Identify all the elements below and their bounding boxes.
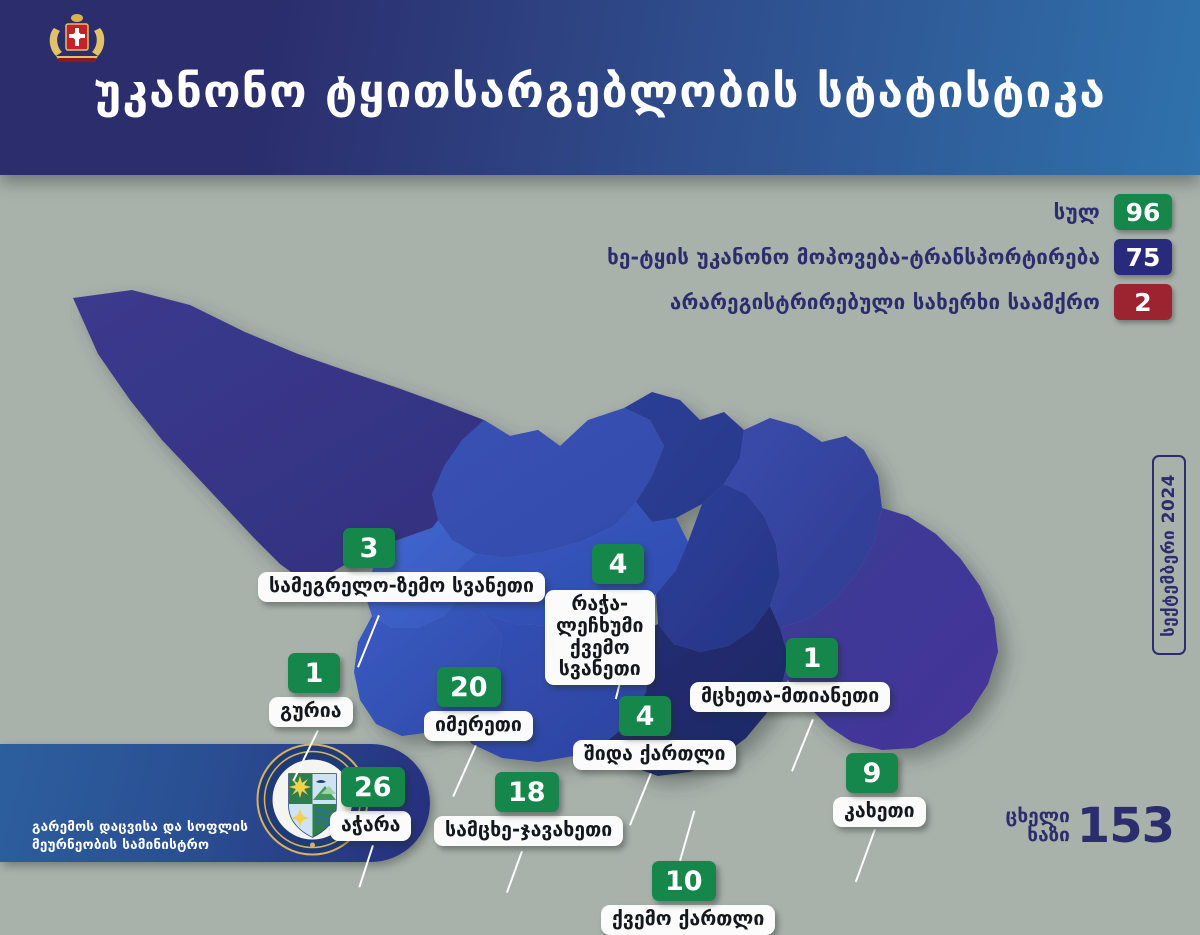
header-banner: უკანონო ტყითსარგებლობის სტატისტიკა (0, 0, 1200, 175)
date-tag: სექტემბერი 2024 (1152, 455, 1186, 655)
region-name-label: აჭარა (330, 811, 411, 841)
region-value-badge: 20 (437, 667, 501, 707)
region-name-label: შიდა ქართლი (573, 740, 736, 770)
region-name-label: რაჭა-ლეჩხუმი ქვემო სვანეთი (545, 590, 655, 685)
hotline-number: 153 (1077, 805, 1174, 848)
region-value-badge: 18 (495, 772, 559, 812)
hotline-label: ცხელი ხაზი (1006, 807, 1070, 845)
region-value-badge: 9 (846, 753, 898, 793)
region-name-label: გურია (269, 697, 353, 727)
date-tag-text: სექტემბერი 2024 (1159, 474, 1179, 637)
georgia-coat-of-arms-icon (42, 12, 112, 70)
region-value-badge: 1 (288, 653, 340, 693)
region-name-label: მცხეთა-მთიანეთი (690, 682, 890, 712)
ministry-name-line1: გარემოს დაცვისა და სოფლის (32, 818, 248, 836)
region-value-badge: 3 (343, 528, 395, 568)
region-value-badge: 26 (341, 767, 405, 807)
hotline: ცხელი ხაზი 153 (1006, 805, 1174, 848)
region-name-label: იმერეთი (424, 711, 533, 741)
region-value-badge: 10 (652, 861, 716, 901)
ministry-name-line2: მეურნეობის სამინისტრო (32, 836, 248, 854)
leader-line (506, 851, 523, 893)
region-name-label: სამეგრელო-ზემო სვანეთი (258, 572, 545, 602)
region-value-badge: 4 (619, 696, 671, 736)
hotline-label-line2: ხაზი (1006, 826, 1070, 845)
ministry-name: გარემოს დაცვისა და სოფლის მეურნეობის სამ… (32, 818, 248, 854)
page-title: უკანონო ტყითსარგებლობის სტატისტიკა (94, 62, 1106, 114)
region-value-badge: 4 (592, 544, 644, 584)
region-name-label: კახეთი (833, 797, 926, 827)
region-value-badge: 1 (786, 638, 838, 678)
region-name-label: სამცხე-ჯავახეთი (434, 816, 623, 846)
region-name-label: ქვემო ქართლი (601, 905, 775, 935)
